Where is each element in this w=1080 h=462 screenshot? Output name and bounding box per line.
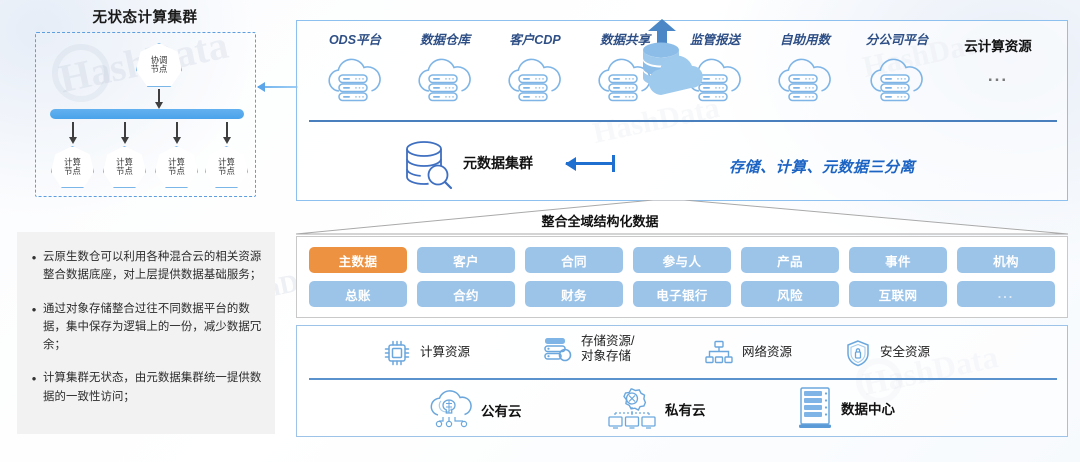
data-tag-more[interactable]: ... (957, 281, 1055, 307)
storage-disk-icon (542, 334, 572, 364)
resource-item[interactable]: 网络资源 (705, 339, 792, 367)
cloud-platform-item[interactable]: 数据仓库 (401, 29, 489, 107)
infrastructure-label: 数据中心 (841, 398, 895, 418)
compute-node-line2: 节点 (168, 167, 185, 176)
cluster-title: 无状态计算集群 (0, 6, 290, 27)
bus-to-node-arrow (124, 122, 126, 138)
left-arrow-to-bar-icon (566, 162, 612, 165)
resource-item[interactable]: 存储资源/ 对象存储 (542, 334, 634, 365)
note-item: • 计算集群无状态，由元数据集群统一提供数据的一致性访问； (25, 369, 265, 406)
diagram-canvas: HashData HashData HashData HashData Hash… (0, 0, 1080, 462)
cloud-platform-label: ODS平台 (329, 29, 381, 48)
storage-cloud-upload-icon (629, 19, 707, 105)
bus-to-node-arrow (72, 122, 74, 138)
cpu-icon (383, 339, 411, 367)
coordinator-node-line2: 节点 (151, 65, 168, 74)
interconnect-bus (50, 109, 244, 119)
private-cloud-gear-icon (607, 386, 657, 432)
database-search-icon (399, 138, 455, 192)
structured-data-tags-panel: 主数据 客户 合同 参与人 产品 事件 机构 总账 合约 财务 电子银行 风险 … (296, 236, 1068, 318)
panel-divider (309, 120, 1057, 122)
note-item: • 云原生数仓可以利用各种混合云的相关资源整合数据底座，对上层提供数据基础服务； (25, 248, 265, 285)
data-tag-main[interactable]: 主数据 (309, 247, 407, 273)
note-item: • 通过对象存储整合过往不同数据平台的数据，集中保存为逻辑上的一份，减少数据冗余… (25, 300, 265, 355)
coordinator-node[interactable]: 协调 节点 (136, 43, 182, 87)
cloud-resources-title: 云计算资源 (940, 35, 1056, 55)
resource-label: 网络资源 (742, 345, 792, 360)
data-tag[interactable]: 产品 (741, 247, 839, 273)
data-tag[interactable]: 互联网 (849, 281, 947, 307)
data-tag[interactable]: 电子银行 (633, 281, 731, 307)
infrastructure-label: 私有云 (665, 399, 706, 419)
resource-label: 存储资源/ 对象存储 (581, 334, 634, 365)
tag-row: 主数据 客户 合同 参与人 产品 事件 机构 (309, 247, 1055, 273)
data-center-rack-icon (797, 386, 833, 430)
infrastructure-resources-panel: 计算资源 存储资源/ 对象存储 网络资源 (296, 325, 1068, 437)
bullet-marker: • (25, 248, 43, 285)
note-text: 云原生数仓可以利用各种混合云的相关资源整合数据底座，对上层提供数据基础服务； (43, 248, 265, 285)
compute-node-line2: 节点 (116, 167, 133, 176)
cloud-platform-label: 数据仓库 (420, 29, 470, 48)
infrastructure-item[interactable]: 数据中心 (797, 386, 895, 430)
cloud-server-icon (415, 51, 475, 107)
data-tag[interactable]: 风险 (741, 281, 839, 307)
cloud-platform-label: 自助用数 (780, 29, 830, 48)
resource-item[interactable]: 计算资源 (383, 339, 470, 367)
cloud-platform-label: 客户CDP (509, 29, 560, 48)
panel-divider (309, 378, 1057, 380)
cloud-server-icon (867, 51, 927, 107)
infrastructure-label: 公有云 (481, 400, 522, 420)
compute-node-line2: 节点 (218, 167, 235, 176)
cloud-server-icon (505, 51, 565, 107)
cloud-server-icon (775, 51, 835, 107)
compute-node[interactable]: 计算 节点 (51, 146, 94, 188)
data-tag[interactable]: 总账 (309, 281, 407, 307)
cloud-platform-item[interactable]: 客户CDP (491, 29, 579, 107)
cloud-platform-item[interactable]: 分公司平台 (849, 29, 945, 107)
bullet-marker: • (25, 300, 43, 355)
separation-tagline: 存储、计算、元数据三分离 (729, 156, 915, 177)
coordinator-to-bus-arrow (158, 89, 160, 103)
bus-to-node-arrow (176, 122, 178, 138)
compute-node[interactable]: 计算 节点 (103, 146, 146, 188)
compute-node[interactable]: 计算 节点 (205, 146, 248, 188)
cluster-link-arrow-icon (258, 86, 298, 88)
integrate-title: 整合全域结构化数据 (541, 211, 658, 230)
resource-label: 计算资源 (420, 345, 470, 360)
cloud-platform-label: 分公司平台 (866, 29, 929, 48)
cloud-resources-ellipsis: ... (940, 66, 1056, 86)
data-tag[interactable]: 参与人 (633, 247, 731, 273)
data-tag[interactable]: 合同 (525, 247, 623, 273)
data-tag[interactable]: 客户 (417, 247, 515, 273)
note-text: 通过对象存储整合过往不同数据平台的数据，集中保存为逻辑上的一份，减少数据冗余； (43, 300, 265, 355)
infrastructure-item[interactable]: 私有云 (607, 386, 706, 432)
data-tag[interactable]: 事件 (849, 247, 947, 273)
public-cloud-brain-icon (425, 388, 473, 432)
tag-row: 总账 合约 财务 电子银行 风险 互联网 ... (309, 281, 1055, 307)
cloud-platform-item[interactable]: 自助用数 (761, 29, 849, 107)
note-text: 计算集群无状态，由元数据集群统一提供数据的一致性访问； (43, 369, 265, 406)
notes-panel: • 云原生数仓可以利用各种混合云的相关资源整合数据底座，对上层提供数据基础服务；… (17, 232, 275, 434)
resource-label: 安全资源 (880, 345, 930, 360)
cloud-platform-item[interactable]: ODS平台 (311, 29, 399, 107)
stateless-cluster-box: 协调 节点 计算 节点 计算 节点 计算 节点 计算 节点 (35, 32, 256, 197)
resource-item[interactable]: 安全资源 (845, 339, 930, 367)
metadata-cluster-label: 元数据集群 (463, 153, 533, 173)
data-tag[interactable]: 财务 (525, 281, 623, 307)
shield-lock-icon (845, 339, 871, 367)
data-tag[interactable]: 合约 (417, 281, 515, 307)
cloud-server-icon (325, 51, 385, 107)
infrastructure-item[interactable]: 公有云 (425, 388, 522, 432)
compute-node-line2: 节点 (64, 167, 81, 176)
bus-to-node-arrow (226, 122, 228, 138)
compute-node[interactable]: 计算 节点 (155, 146, 198, 188)
data-tag[interactable]: 机构 (957, 247, 1055, 273)
bullet-marker: • (25, 369, 43, 406)
panel-connector (296, 200, 1068, 238)
network-tree-icon (705, 339, 733, 367)
